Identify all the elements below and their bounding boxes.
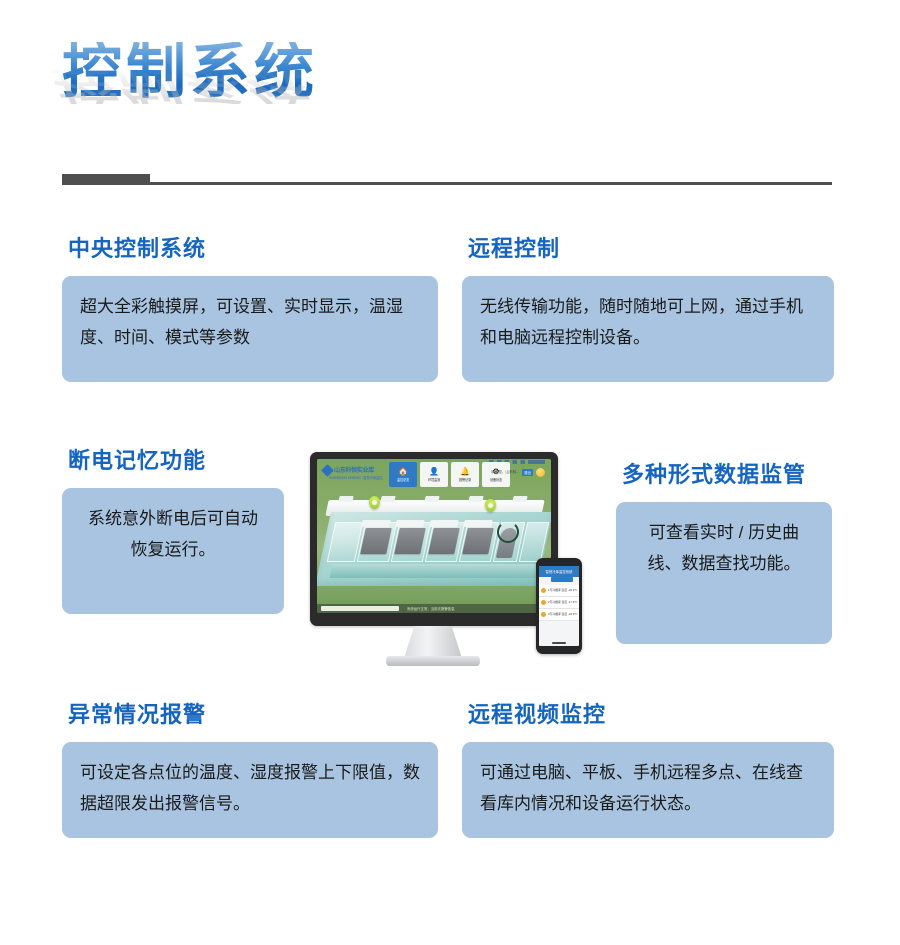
cold-storage-unit[interactable]: [428, 528, 460, 554]
roof-unit: [380, 496, 395, 502]
welcome-text: 欢迎您，山东科...: [491, 470, 519, 475]
feature-title: 远程视频监控: [468, 702, 834, 728]
equipment-top: [395, 520, 424, 527]
feature-title: 远程控制: [468, 236, 834, 262]
feature-description: 可查看实时 / 历史曲线、数据查找功能。: [616, 502, 832, 644]
phone-list-label: 2号冷藏库 温度 -17.6℃: [548, 601, 577, 605]
feature-data-supervision: 多种形式数据监管 可查看实时 / 历史曲线、数据查找功能。: [616, 462, 832, 644]
status-dot-icon: [541, 600, 546, 605]
app-tab-environment[interactable]: 👤 环境监测: [420, 462, 448, 487]
logout-button[interactable]: 退出: [522, 469, 533, 476]
gauge-ring-icon: [497, 521, 519, 543]
equipment-top: [429, 520, 458, 527]
phone-list-item[interactable]: 2号冷藏库 温度 -17.6℃ 正常 查看: [539, 597, 579, 609]
phone-list-item[interactable]: 3号冷藏库 温度 -18.9℃ 正常 查看: [539, 609, 579, 621]
monitor-screen: 山东科恒实业库 SHANDONG KEHENG · 智慧冷库监控 🏠 监控总览 …: [317, 459, 551, 613]
app-header-bar: 山东科恒实业库 SHANDONG KEHENG · 智慧冷库监控 🏠 监控总览 …: [317, 459, 551, 490]
divider-accent-block: [62, 174, 150, 185]
page-title-block: 控制系统 控制系统: [62, 42, 562, 162]
app-logo-subtitle: SHANDONG KEHENG · 智慧冷库监控: [329, 475, 382, 480]
phone-screen: 智慧冷库监控系统 1号冷藏库 温度 -18.2℃ 正常 查看 2号冷藏库 温度 …: [539, 566, 579, 646]
feature-description: 超大全彩触摸屏，可设置、实时显示，温湿度、时间、模式等参数: [62, 276, 438, 382]
feature-title: 中央控制系统: [68, 236, 438, 262]
roof-unit: [468, 496, 483, 502]
bell-icon: 🔔: [460, 468, 470, 476]
feature-description: 无线传输功能，随时随地可上网，通过手机和电脑远程控制设备。: [462, 276, 834, 382]
warehouse-3d-scene[interactable]: [317, 490, 551, 600]
person-icon: 👤: [429, 468, 439, 476]
feature-central-control: 中央控制系统 超大全彩触摸屏，可设置、实时显示，温湿度、时间、模式等参数: [62, 236, 438, 382]
app-tab-label: 报警记录: [459, 477, 471, 482]
feature-description: 系统意外断电后可自动恢复运行。: [62, 488, 284, 614]
feature-description: 可通过电脑、平板、手机远程多点、在线查看库内情况和设备运行状态。: [462, 742, 834, 838]
phone-list-item[interactable]: 1号冷藏库 温度 -18.2℃ 正常 查看: [539, 585, 579, 597]
roof-unit: [512, 496, 527, 502]
status-dot-icon: [541, 612, 546, 617]
feature-remote-control: 远程控制 无线传输功能，随时随地可上网，通过手机和电脑远程控制设备。: [462, 236, 834, 382]
desktop-monitor: 山东科恒实业库 SHANDONG KEHENG · 智慧冷库监控 🏠 监控总览 …: [310, 452, 558, 626]
status-dot-icon: [541, 588, 546, 593]
phone-list-label: 3号冷藏库 温度 -18.9℃: [548, 613, 577, 617]
feature-remote-video: 远程视频监控 可通过电脑、平板、手机远程多点、在线查看库内情况和设备运行状态。: [462, 702, 834, 838]
phone-active-tab[interactable]: [551, 577, 573, 582]
divider-line: [150, 182, 832, 185]
cold-storage-unit[interactable]: [360, 528, 392, 554]
feature-description: 可设定各点位的温度、湿度报警上下限值，数据超限发出报警信号。: [62, 742, 438, 838]
app-tab-label: 设备状态: [490, 477, 502, 482]
roof-unit: [338, 496, 353, 502]
phone-app-header: 智慧冷库监控系统: [539, 566, 579, 577]
cold-storage-unit[interactable]: [394, 528, 426, 554]
status-ticker: 系统运行正常，当前无报警信息: [407, 606, 454, 611]
app-status-strip: 系统运行正常，当前无报警信息: [317, 604, 551, 613]
app-status-area: 欢迎您，山东科... 退出: [491, 468, 545, 477]
phone-app-title: 智慧冷库监控系统: [545, 569, 572, 574]
equipment-top: [463, 520, 492, 527]
section-divider: [62, 174, 832, 186]
avatar[interactable]: [536, 468, 545, 477]
app-tab-overview[interactable]: 🏠 监控总览: [389, 462, 417, 487]
search-input[interactable]: [321, 606, 399, 611]
app-tab-alarms[interactable]: 🔔 报警记录: [451, 462, 479, 487]
feature-power-memory: 断电记忆功能 系统意外断电后可自动恢复运行。: [62, 448, 284, 614]
cold-storage-unit[interactable]: [462, 528, 494, 554]
app-tab-label: 环境监测: [428, 477, 440, 482]
device-mockup-illustration: 山东科恒实业库 SHANDONG KEHENG · 智慧冷库监控 🏠 监控总览 …: [308, 448, 598, 680]
roof-unit: [424, 496, 439, 502]
page-title: 控制系统: [62, 42, 562, 102]
monitor-stand-neck: [404, 626, 462, 658]
mobile-phone: 智慧冷库监控系统 1号冷藏库 温度 -18.2℃ 正常 查看 2号冷藏库 温度 …: [536, 558, 582, 654]
warehouse-floor-front: [330, 564, 539, 578]
feature-title: 断电记忆功能: [68, 448, 284, 474]
feature-abnormal-alarm: 异常情况报警 可设定各点位的温度、湿度报警上下限值，数据超限发出报警信号。: [62, 702, 438, 838]
feature-title: 异常情况报警: [68, 702, 438, 728]
phone-home-indicator: [552, 642, 566, 644]
app-tab-label: 监控总览: [397, 477, 409, 482]
app-logo: 山东科恒实业库: [323, 466, 374, 475]
phone-list-label: 1号冷藏库 温度 -18.2℃: [548, 589, 577, 593]
feature-title: 多种形式数据监管: [622, 462, 832, 488]
equipment-top: [361, 520, 390, 527]
home-icon: 🏠: [398, 468, 408, 476]
monitor-stand-base: [386, 656, 480, 666]
app-logo-text: 山东科恒实业库: [334, 468, 374, 474]
